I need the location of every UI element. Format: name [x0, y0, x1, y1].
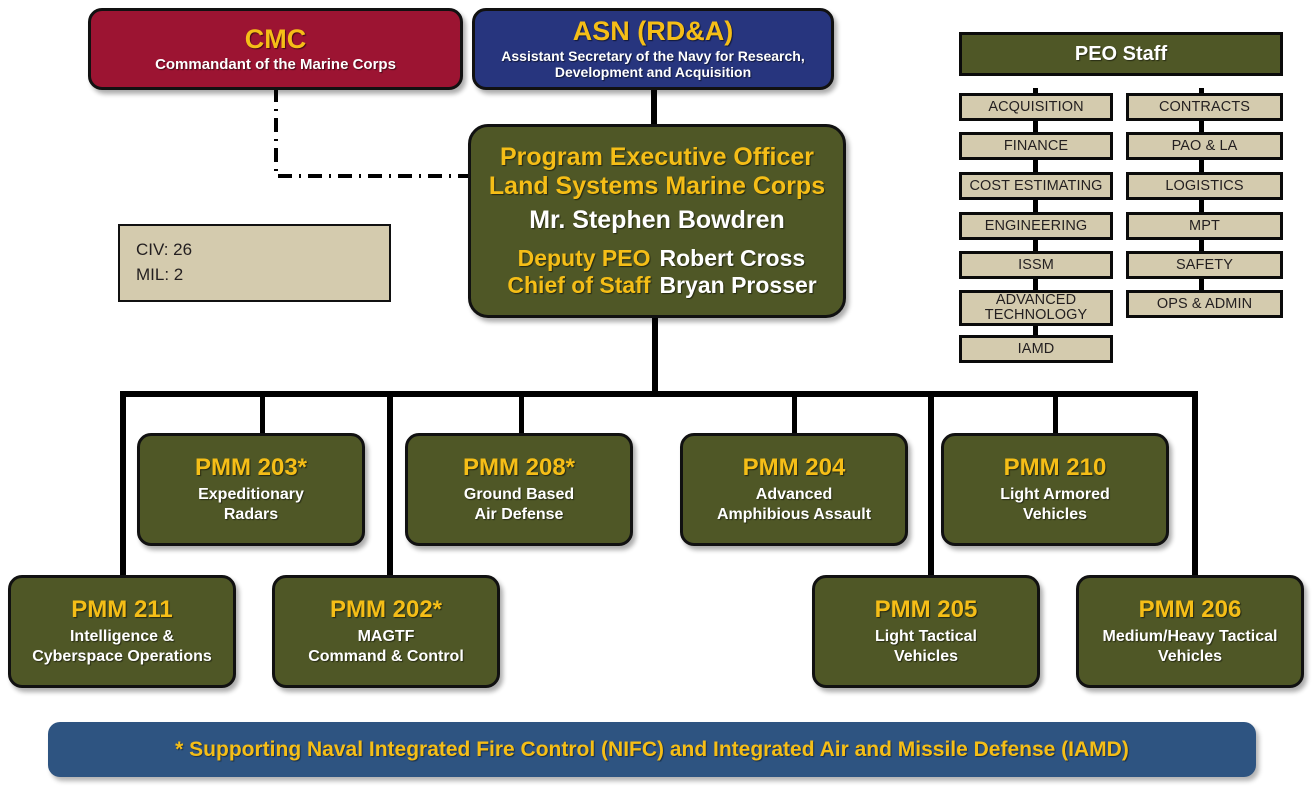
connector-bus-to-pmm204 — [792, 394, 797, 438]
peo-deputy-person: Robert Cross — [660, 246, 832, 272]
pmm-desc-line1: Expeditionary — [198, 485, 304, 505]
staff-cell-cost-estimating[interactable]: COST ESTIMATING — [959, 172, 1113, 200]
node-cmc[interactable]: CMC Commandant of the Marine Corps — [88, 8, 463, 90]
pmm-code: PMM 204 — [743, 455, 846, 481]
staff-cell-issm[interactable]: ISSM — [959, 251, 1113, 279]
manning-military: MIL: 2 — [136, 263, 373, 288]
staff-cell-finance[interactable]: FINANCE — [959, 132, 1113, 160]
pmm-code: PMM 210 — [1004, 455, 1107, 481]
pmm-code: PMM 211 — [71, 597, 172, 623]
connector-asn-to-peo — [651, 88, 657, 126]
peo-staff-header-label: PEO Staff — [1075, 43, 1167, 66]
staff-cell-label: COST ESTIMATING — [969, 179, 1102, 194]
connector-bus-to-pmm206 — [1192, 394, 1198, 578]
staff-cell-label: ACQUISITION — [988, 100, 1083, 115]
node-pmm-202[interactable]: PMM 202* MAGTF Command & Control — [272, 575, 500, 688]
pmm-desc-line1: MAGTF — [358, 627, 415, 647]
pmm-code: PMM 205 — [875, 597, 978, 623]
pmm-code: PMM 203* — [195, 455, 307, 481]
pmm-code: PMM 206 — [1139, 597, 1242, 623]
asn-full-name-line1: Assistant Secretary of the Navy for Rese… — [501, 49, 804, 65]
pmm-desc-line2: Vehicles — [894, 647, 958, 667]
staff-cell-engineering[interactable]: ENGINEERING — [959, 212, 1113, 240]
staff-cell-label: ENGINEERING — [985, 219, 1088, 234]
footer-note-label: * Supporting Naval Integrated Fire Contr… — [175, 738, 1129, 762]
connector-main-bus — [120, 391, 1198, 397]
staff-cell-label: ADVANCED TECHNOLOGY — [962, 293, 1110, 323]
pmm-desc-line2: Air Defense — [475, 505, 564, 525]
connector-peo-trunk — [652, 318, 658, 396]
staff-cell-logistics[interactable]: LOGISTICS — [1126, 172, 1283, 200]
node-pmm-205[interactable]: PMM 205 Light Tactical Vehicles — [812, 575, 1040, 688]
cmc-full-name: Commandant of the Marine Corps — [155, 56, 396, 73]
peo-leadership-row: Deputy PEO Robert Cross — [483, 246, 832, 272]
peo-deputy-role: Deputy PEO — [483, 246, 651, 272]
pmm-desc-line2: Radars — [224, 505, 278, 525]
connector-bus-to-pmm202 — [387, 394, 393, 578]
node-pmm-203[interactable]: PMM 203* Expeditionary Radars — [137, 433, 365, 546]
peo-chief-of-staff-person: Bryan Prosser — [660, 273, 832, 299]
pmm-desc-line1: Medium/Heavy Tactical — [1103, 627, 1278, 647]
staff-cell-ops-and-admin[interactable]: OPS & ADMIN — [1126, 290, 1283, 318]
staff-cell-safety[interactable]: SAFETY — [1126, 251, 1283, 279]
staff-cell-contracts[interactable]: CONTRACTS — [1126, 93, 1283, 121]
staff-cell-label: MPT — [1189, 219, 1220, 234]
manning-civilian: CIV: 26 — [136, 238, 373, 263]
staff-cell-pao-and-la[interactable]: PAO & LA — [1126, 132, 1283, 160]
connector-bus-to-pmm208 — [519, 394, 524, 438]
pmm-desc-line1: Advanced — [756, 485, 832, 505]
node-asn[interactable]: ASN (RD&A) Assistant Secretary of the Na… — [472, 8, 834, 90]
staff-cell-acquisition[interactable]: ACQUISITION — [959, 93, 1113, 121]
connector-bus-to-pmm203 — [260, 394, 265, 438]
cmc-acronym: CMC — [245, 25, 307, 54]
asn-full-name-line2: Development and Acquisition — [555, 65, 751, 81]
staff-cell-label: FINANCE — [1004, 139, 1068, 154]
connector-bus-to-pmm205 — [928, 394, 934, 578]
peo-leadership-row: Chief of Staff Bryan Prosser — [483, 273, 832, 299]
staff-cell-label: SAFETY — [1176, 258, 1233, 273]
node-peo-land-systems[interactable]: Program Executive Officer Land Systems M… — [468, 124, 846, 318]
staff-cell-label: CONTRACTS — [1159, 100, 1250, 115]
pmm-desc-line2: Amphibious Assault — [717, 505, 871, 525]
node-pmm-210[interactable]: PMM 210 Light Armored Vehicles — [941, 433, 1169, 546]
connector-bus-to-pmm210 — [1053, 394, 1058, 438]
peo-title-line2: Land Systems Marine Corps — [489, 172, 825, 201]
staff-cell-label: IAMD — [1018, 342, 1055, 357]
peo-officer-name: Mr. Stephen Bowdren — [529, 205, 785, 235]
staff-cell-iamd[interactable]: IAMD — [959, 335, 1113, 363]
pmm-desc-line2: Cyberspace Operations — [32, 647, 212, 667]
pmm-desc-line1: Light Tactical — [875, 627, 977, 647]
staff-cell-label: OPS & ADMIN — [1157, 297, 1252, 312]
peo-staff-header[interactable]: PEO Staff — [959, 32, 1283, 76]
pmm-desc-line1: Ground Based — [464, 485, 574, 505]
peo-title-line1: Program Executive Officer — [500, 143, 814, 172]
pmm-desc-line2: Command & Control — [308, 647, 464, 667]
staff-cell-label: ISSM — [1018, 258, 1054, 273]
node-pmm-208[interactable]: PMM 208* Ground Based Air Defense — [405, 433, 633, 546]
footer-note-banner: * Supporting Naval Integrated Fire Contr… — [48, 722, 1256, 777]
pmm-desc-line1: Intelligence & — [70, 627, 174, 647]
node-pmm-211[interactable]: PMM 211 Intelligence & Cyberspace Operat… — [8, 575, 236, 688]
pmm-desc-line2: Vehicles — [1158, 647, 1222, 667]
peo-leadership-list: Deputy PEO Robert Cross Chief of Staff B… — [483, 246, 832, 299]
pmm-code: PMM 202* — [330, 597, 442, 623]
peo-chief-of-staff-role: Chief of Staff — [483, 273, 651, 299]
pmm-desc-line2: Vehicles — [1023, 505, 1087, 525]
pmm-code: PMM 208* — [463, 455, 575, 481]
pmm-desc-line1: Light Armored — [1000, 485, 1110, 505]
staff-cell-advanced-technology[interactable]: ADVANCED TECHNOLOGY — [959, 290, 1113, 326]
node-pmm-204[interactable]: PMM 204 Advanced Amphibious Assault — [680, 433, 908, 546]
node-pmm-206[interactable]: PMM 206 Medium/Heavy Tactical Vehicles — [1076, 575, 1304, 688]
asn-acronym: ASN (RD&A) — [573, 17, 733, 46]
staff-cell-label: PAO & LA — [1172, 139, 1238, 154]
org-chart-canvas: CMC Commandant of the Marine Corps ASN (… — [0, 0, 1312, 792]
staff-cell-label: LOGISTICS — [1165, 179, 1243, 194]
manning-box: CIV: 26 MIL: 2 — [118, 224, 391, 302]
staff-cell-mpt[interactable]: MPT — [1126, 212, 1283, 240]
connector-bus-to-pmm211 — [120, 394, 126, 578]
